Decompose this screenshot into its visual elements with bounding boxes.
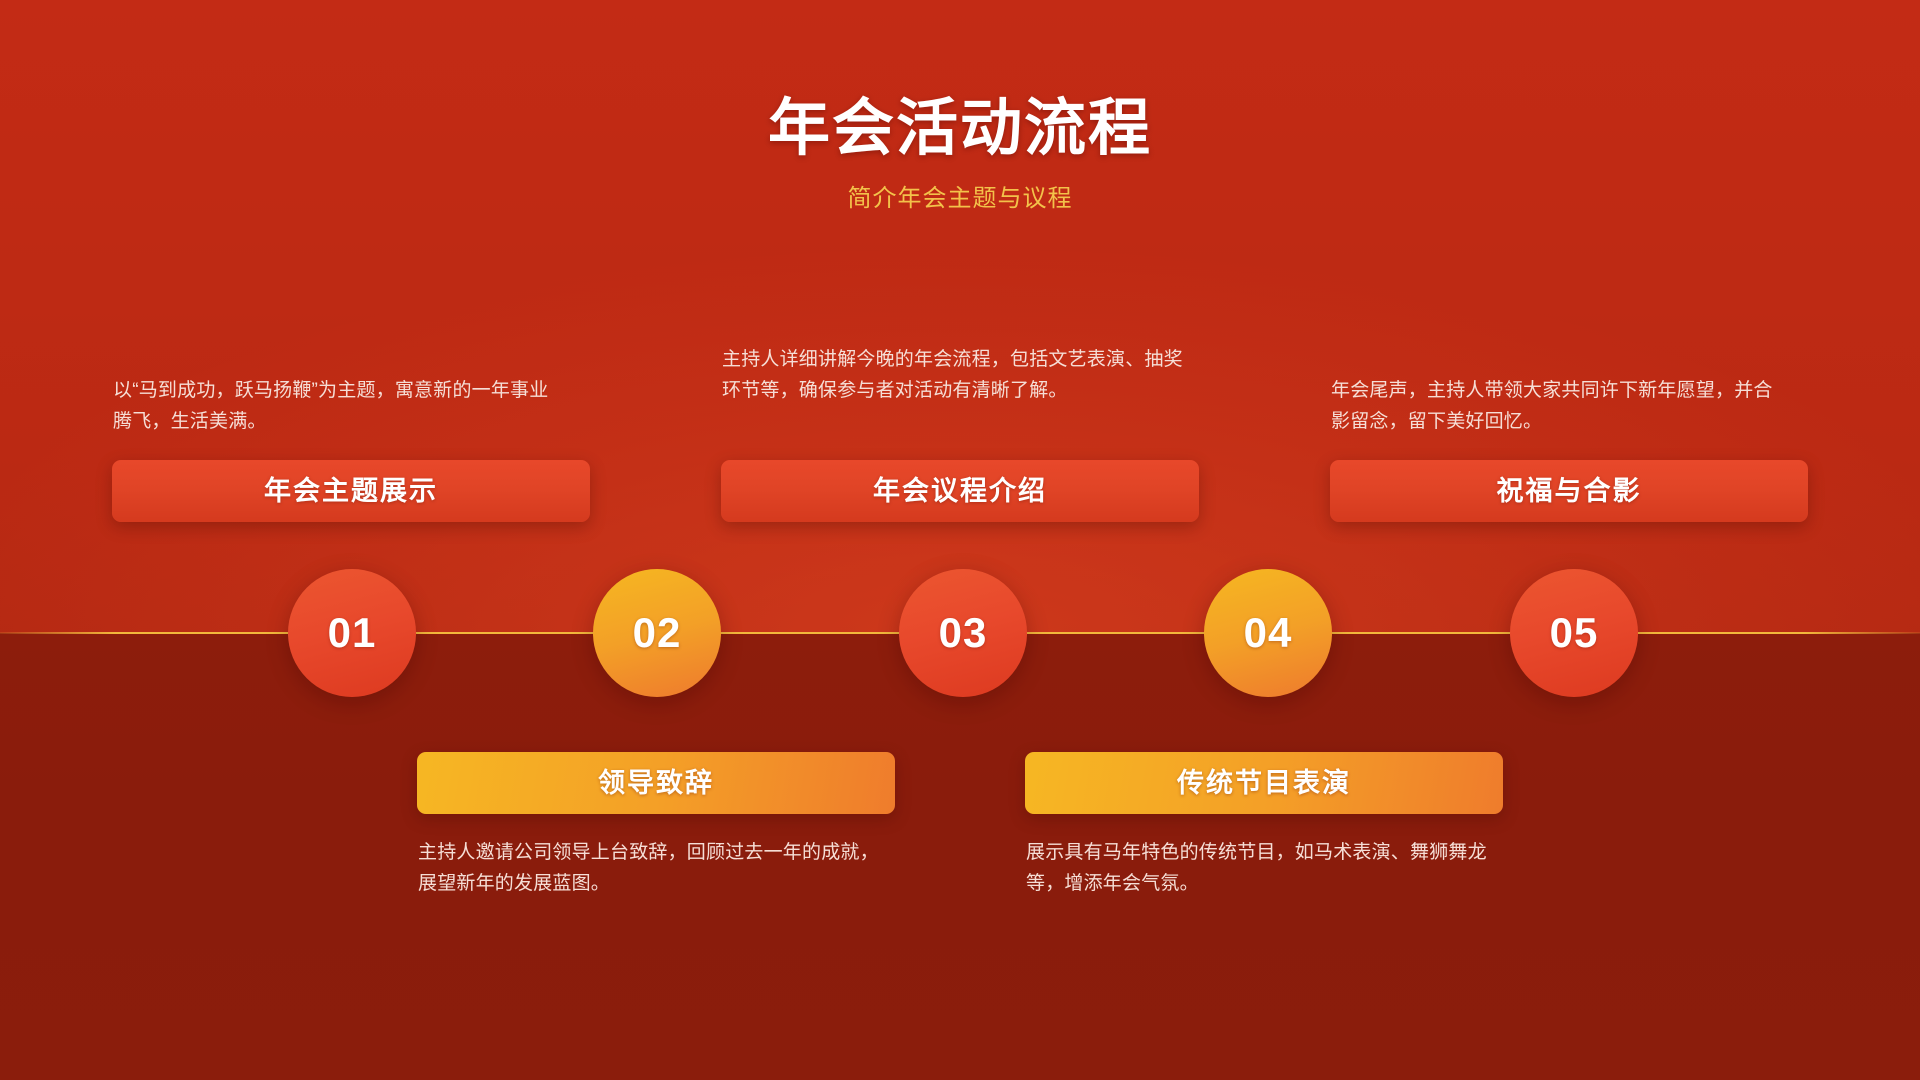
step-label-03[interactable]: 年会议程介绍 <box>721 460 1199 522</box>
step-description-04: 展示具有马年特色的传统节目，如马术表演、舞狮舞龙等，增添年会气氛。 <box>1026 838 1496 900</box>
timeline-node-03[interactable]: 03 <box>899 569 1027 697</box>
slide-canvas: 年会活动流程 简介年会主题与议程 以“马到成功，跃马扬鞭”为主题，寓意新的一年事… <box>0 0 1920 1080</box>
step-description-05: 年会尾声，主持人带领大家共同许下新年愿望，并合影留念，留下美好回忆。 <box>1331 376 1783 438</box>
step-label-01[interactable]: 年会主题展示 <box>112 460 590 522</box>
timeline-node-01[interactable]: 01 <box>288 569 416 697</box>
step-label-text-02: 领导致辞 <box>598 770 714 797</box>
page-subtitle: 简介年会主题与议程 <box>0 161 1920 214</box>
timeline-node-02[interactable]: 02 <box>593 569 721 697</box>
step-label-text-04: 传统节目表演 <box>1177 770 1351 797</box>
timeline-node-number-01: 01 <box>328 612 377 654</box>
timeline-node-number-03: 03 <box>939 612 988 654</box>
step-label-text-05: 祝福与合影 <box>1497 478 1642 505</box>
timeline-node-number-02: 02 <box>633 612 682 654</box>
step-label-text-01: 年会主题展示 <box>264 478 438 505</box>
step-label-05[interactable]: 祝福与合影 <box>1330 460 1808 522</box>
step-description-01: 以“马到成功，跃马扬鞭”为主题，寓意新的一年事业腾飞，生活美满。 <box>113 376 565 438</box>
timeline-node-number-05: 05 <box>1550 612 1599 654</box>
step-label-04[interactable]: 传统节目表演 <box>1025 752 1503 814</box>
background-lower-band <box>0 633 1920 1080</box>
step-description-02: 主持人邀请公司领导上台致辞，回顾过去一年的成就，展望新年的发展蓝图。 <box>418 838 888 900</box>
slide-header: 年会活动流程 简介年会主题与议程 <box>0 0 1920 214</box>
step-description-03: 主持人详细讲解今晚的年会流程，包括文艺表演、抽奖环节等，确保参与者对活动有清晰了… <box>722 345 1192 407</box>
timeline-node-04[interactable]: 04 <box>1204 569 1332 697</box>
step-label-text-03: 年会议程介绍 <box>873 478 1047 505</box>
page-title: 年会活动流程 <box>0 0 1920 161</box>
timeline-node-number-04: 04 <box>1244 612 1293 654</box>
step-label-02[interactable]: 领导致辞 <box>417 752 895 814</box>
timeline-node-05[interactable]: 05 <box>1510 569 1638 697</box>
